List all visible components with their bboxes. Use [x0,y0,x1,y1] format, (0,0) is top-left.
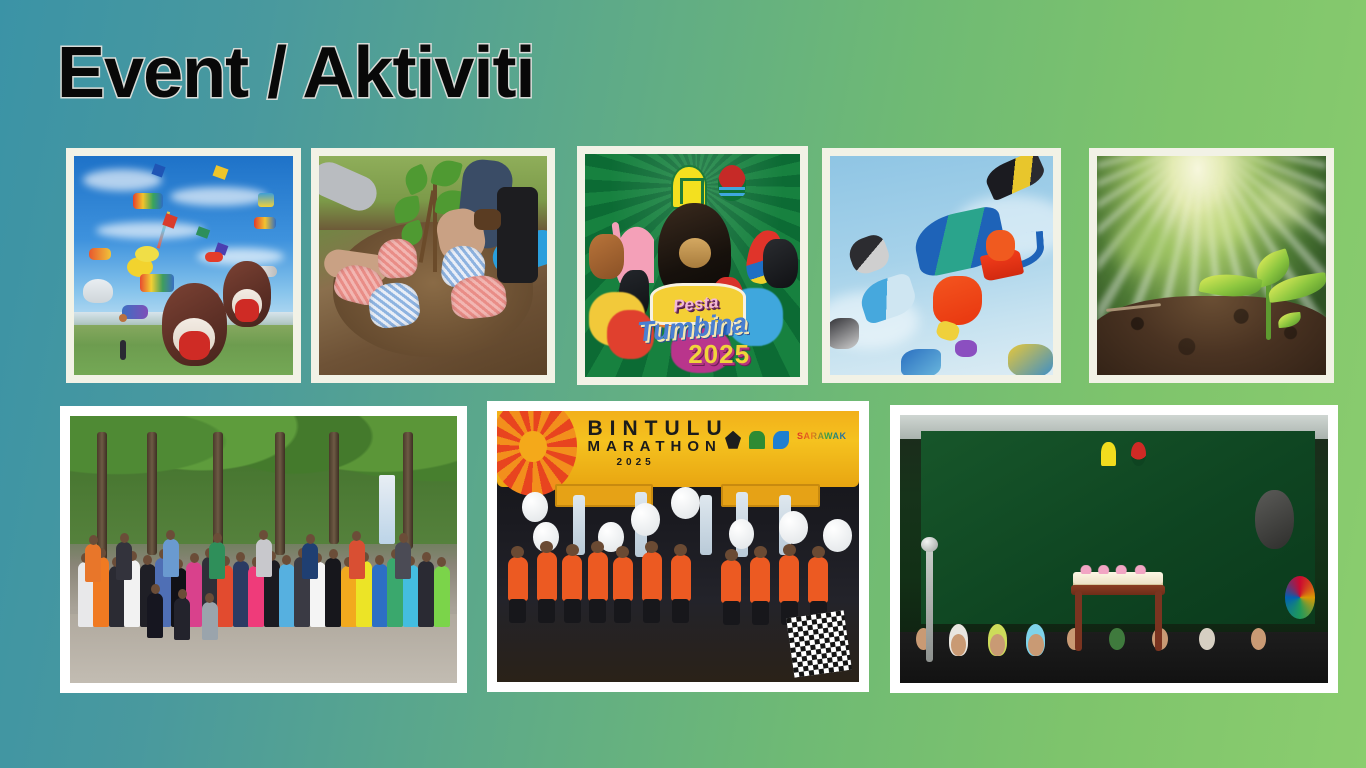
white-balloon [631,503,660,536]
animal-graphic [763,239,797,288]
white-balloon [729,519,754,549]
orange-creature-kite [933,276,982,324]
runner-figure [808,557,828,603]
cloud-shape [170,187,266,207]
bag-object [497,187,538,283]
purple-kite-small [955,340,977,358]
kite-shape [1008,344,1053,375]
runner-figure [588,552,608,601]
cloud-shape [83,169,162,191]
feather-flag [700,495,712,555]
photo-tree-planting-hands [319,156,547,375]
ceremony-table [1071,570,1165,650]
page-title: Event / Aktiviti [57,36,534,112]
chipmunk-kite [162,283,228,366]
bokeh-light [1115,222,1175,270]
runner-figure [508,557,528,600]
runner-figure [750,557,770,603]
kite-shape [195,226,209,239]
runner-figure [721,560,741,603]
black-white-kite [845,232,893,278]
orange-kite-small [986,230,1015,261]
kite-shape [205,252,223,262]
seedling-sprout [1230,226,1312,340]
kite-shape [901,349,941,375]
kite-shape [254,217,276,229]
photo-frame-kite-festival[interactable] [66,148,301,383]
glove-red [377,238,418,280]
bintulu-port-logo-icon [773,431,789,449]
kite-shape [213,165,229,180]
rope-stanchion [926,549,933,662]
council-logo-icon [1101,442,1116,466]
sarawak-wordmark: SARAWAK [797,431,847,449]
marathon-arch-banner: BINTULU MARATHON 2025 SARAWAK [497,411,859,487]
animal-graphic [589,234,623,279]
chipmunk-kite [223,261,271,327]
shoe-object [474,209,501,231]
checkered-flag [786,611,852,678]
marathon-year: 2025 [616,457,654,468]
photo-frame-seedling[interactable] [1089,148,1334,383]
sponsor-logo-row: SARAWAK [725,431,847,449]
marathon-subtitle: MARATHON [588,438,722,455]
tree-canopy [70,416,457,544]
runner-figure [537,552,557,601]
state-crest-logo-icon [725,431,741,449]
kite-shape [258,193,274,207]
white-balloon [522,492,547,522]
white-balloon [779,511,808,544]
globe-emblem-logo-icon [718,165,746,201]
cloud-shape [96,222,206,240]
runner-figure [779,555,799,604]
white-balloon [823,519,852,552]
runner-figure [562,555,582,601]
black-kite-small [830,318,859,349]
slide-canvas: Event / Aktiviti [0,0,1366,768]
white-balloon [671,487,700,520]
photo-pesta-tumbina-2025-poster: Pesta Tumbina 2025 [585,154,800,377]
photo-kite-festival-chipmunk [74,156,293,375]
kite-shape [83,279,113,303]
bintulu-council-logo-icon [749,431,765,449]
photo-frame-tree-planting[interactable] [311,148,555,383]
photo-frame-bintulu-marathon[interactable]: BINTULU MARATHON 2025 SARAWAK [487,401,869,692]
crowd-group [70,528,457,640]
kite-shape [135,246,159,262]
photo-frame-dragon-kites[interactable] [822,148,1061,383]
bokeh-light [1257,182,1312,226]
kite-shape [133,193,163,209]
person-figure [120,340,126,360]
kite-shape [140,274,174,292]
photo-cake-cutting-ceremony [900,415,1328,683]
photo-community-run-group [70,416,457,683]
photo-frame-pesta-tumbina[interactable]: Pesta Tumbina 2025 [577,146,808,385]
photo-frame-cake-ceremony[interactable] [890,405,1338,693]
photo-dragon-seahorse-kites [830,156,1053,375]
photo-bintulu-marathon-2025: BINTULU MARATHON 2025 SARAWAK [497,411,859,682]
runner-figure [642,552,662,601]
runner-figure [671,555,691,601]
kite-shape [89,248,111,260]
sdg-wheel-graphic [1285,576,1315,619]
photo-seedling-sunlight [1097,156,1326,375]
poster-line-3: 2025 [688,339,800,370]
runner-figure [613,557,633,600]
backdrop-animal-graphic [1255,490,1294,549]
emblem-logo-icon [1131,442,1146,466]
photo-frame-group-run[interactable] [60,406,467,693]
